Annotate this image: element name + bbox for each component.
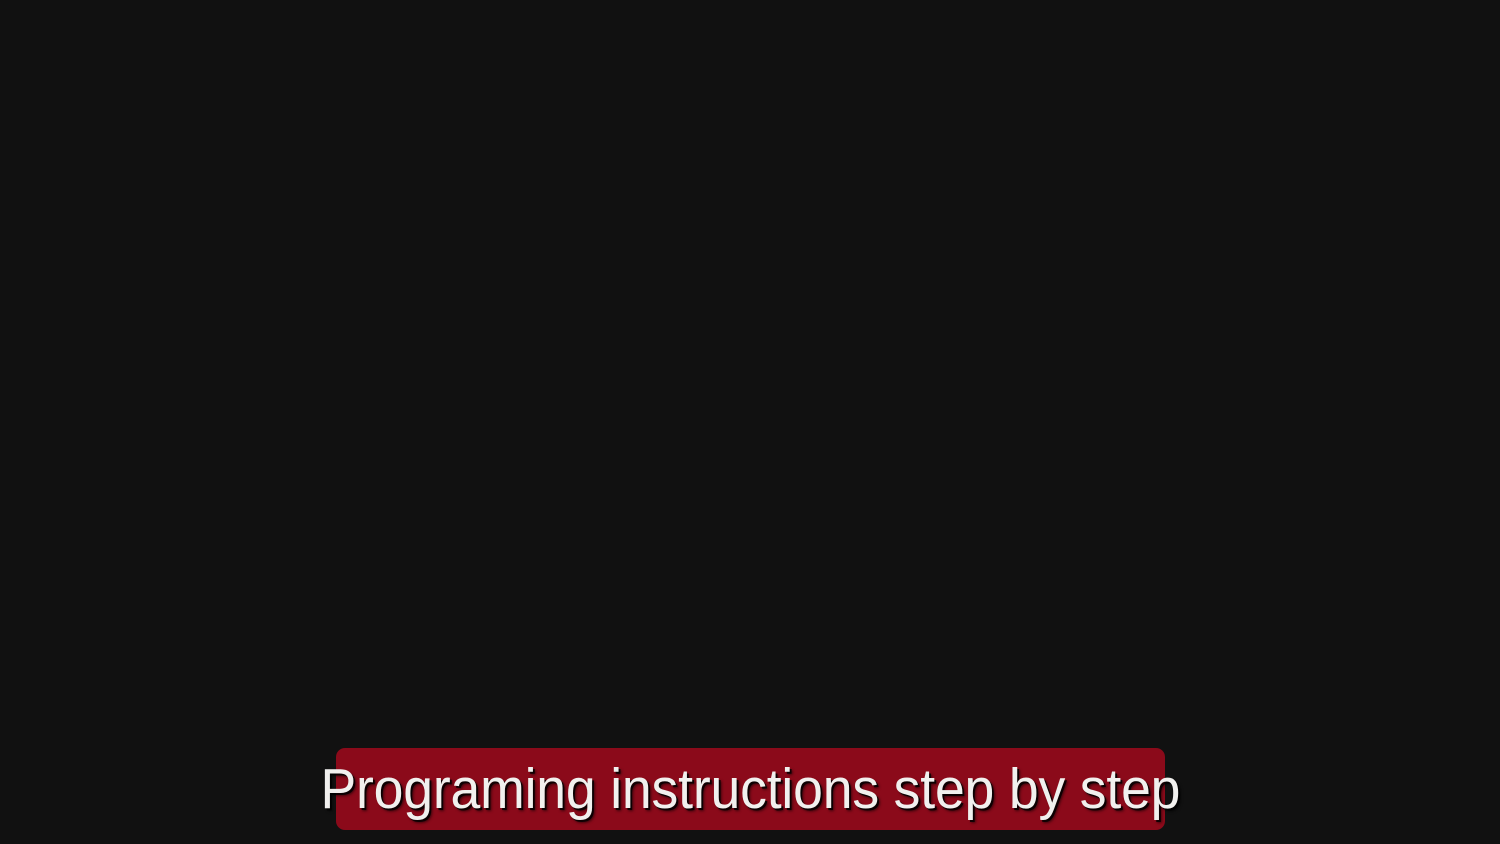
video-stage[interactable] [0, 0, 1500, 844]
caption-text: Programing instructions step by step [320, 761, 1180, 818]
caption-box: Programing instructions step by step [336, 748, 1165, 830]
video-frame: Programing instructions step by step [0, 0, 1500, 844]
